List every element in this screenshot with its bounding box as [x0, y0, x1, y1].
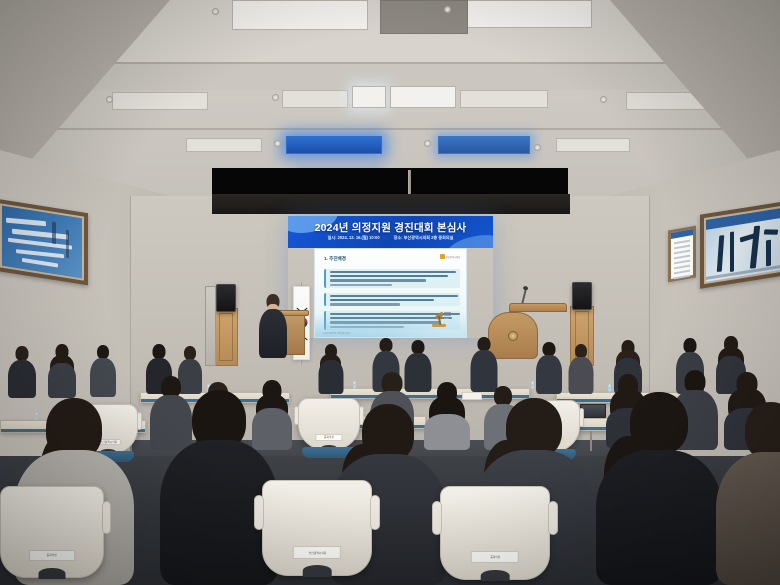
- attendee-foreground: [596, 392, 722, 585]
- left-wall-speaker: [216, 284, 236, 312]
- chair-label-text: 부산광역시의회: [308, 551, 325, 555]
- slide-date-label: 일시: 2024. 12. 16.(월) 10:00: [328, 235, 380, 241]
- right-wall-notice-board: [668, 226, 696, 283]
- attendee: [48, 344, 76, 398]
- podium-top: [509, 303, 567, 312]
- chair: 중회의실: [0, 486, 104, 578]
- slide-banner: 2024년 의정지원 경진대회 본심사 일시: 2024. 12. 16.(월)…: [288, 216, 493, 248]
- presenter-body: [259, 309, 287, 358]
- calligraphy-artwork-left: [2, 206, 82, 279]
- slide-content: 1. 추진배경 부산광역시의회: [314, 248, 467, 338]
- conference-room-photo: 2024년 의정지원 경진대회 본심사 일시: 2024. 12. 16.(월)…: [0, 0, 780, 585]
- chair: 부산광역시의회: [262, 480, 372, 576]
- slide-logo: 부산광역시의회: [440, 254, 460, 259]
- left-wall-calligraphy-frame: [0, 199, 88, 286]
- slide-bullet-block: [324, 293, 460, 306]
- slide-place-label: 장소: 부산광역시의회 2층 중회의실: [394, 235, 454, 241]
- right-wall-speaker: [572, 282, 592, 310]
- water-bottle: [531, 381, 534, 389]
- left-speaker-cabinet: [214, 308, 238, 366]
- attendee-foreground: [160, 390, 278, 585]
- podium-emblem-icon: [508, 331, 518, 341]
- attendee-foreground: [716, 402, 780, 585]
- logo-text: 부산광역시의회: [446, 255, 460, 259]
- slide-footer: 2024년 의정지원 경진대회 본심사: [322, 332, 350, 335]
- projection-screen: 2024년 의정지원 경진대회 본심사 일시: 2024. 12. 16.(월)…: [288, 216, 493, 338]
- logo-mark-icon: [440, 254, 445, 259]
- calligraphy-artwork-right: [706, 208, 780, 282]
- attendee: [568, 344, 593, 394]
- slide-banner-subtitle: 일시: 2024. 12. 16.(월) 10:00 장소: 부산광역시의회 2…: [288, 235, 493, 241]
- slide-heading: 1. 추진배경: [324, 256, 346, 262]
- screen-header-valance: [212, 194, 570, 214]
- slide-banner-title: 2024년 의정지원 경진대회 본심사: [288, 220, 493, 235]
- attendee: [318, 344, 343, 394]
- chair-label-text: 중회의실: [47, 554, 57, 558]
- slide-bullet-block: [324, 269, 460, 288]
- attendee: [470, 337, 498, 392]
- attendee: [536, 342, 562, 394]
- presenter: [258, 294, 288, 358]
- notice-header: [671, 229, 693, 239]
- ceiling: [0, 0, 780, 196]
- right-wall-calligraphy-frame: [700, 201, 780, 289]
- gavel-icon: [426, 310, 452, 330]
- chair: 중회의실: [440, 486, 550, 580]
- attendee: [8, 346, 36, 398]
- water-bottle: [353, 381, 356, 389]
- left-equipment-cabinet: [205, 286, 216, 366]
- attendee: [90, 345, 116, 397]
- chair-label-text: 중회의실: [490, 555, 500, 559]
